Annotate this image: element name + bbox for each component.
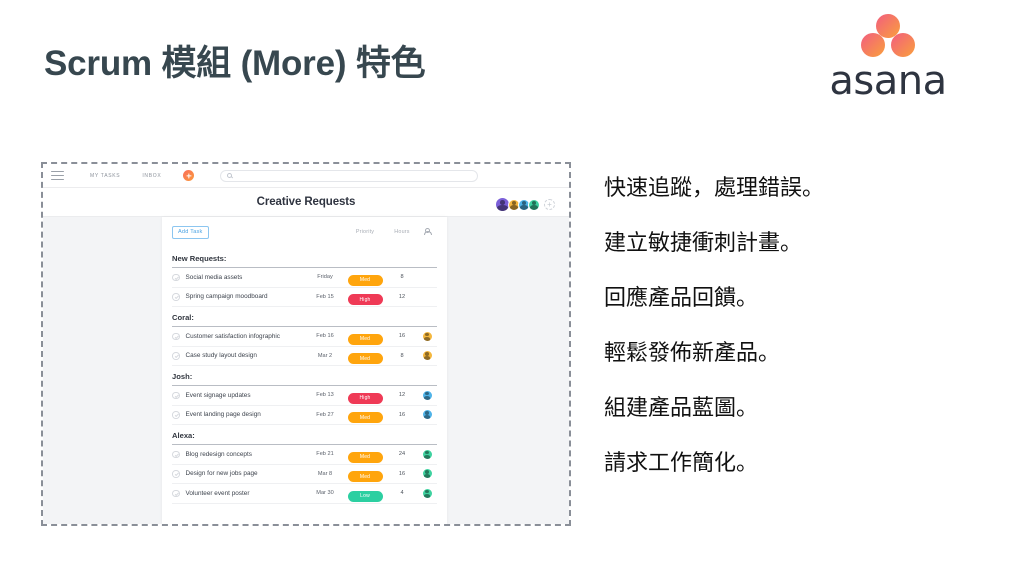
task-complete-checkbox[interactable] — [172, 293, 180, 301]
table-row[interactable]: Case study layout design Mar 2 Med 8 — [172, 347, 437, 367]
task-name: Event signage updates — [186, 392, 308, 399]
task-priority-cell: Low — [343, 484, 387, 502]
task-assignee[interactable] — [417, 489, 437, 498]
section-title: New Requests: — [172, 248, 437, 268]
task-priority-cell: High — [343, 386, 387, 404]
task-complete-checkbox[interactable] — [172, 470, 180, 478]
task-due-date: Feb 27 — [307, 412, 343, 418]
bullet-item: 建立敏捷衝刺計畫。 — [604, 233, 1004, 255]
task-complete-checkbox[interactable] — [172, 392, 180, 400]
table-row[interactable]: Event landing page design Feb 27 Med 16 — [172, 406, 437, 426]
nav-link-inbox[interactable]: INBOX — [142, 173, 161, 179]
task-hours: 12 — [387, 294, 417, 300]
task-assignee[interactable] — [417, 410, 437, 419]
task-priority-cell: Med — [343, 327, 387, 345]
task-name: Event landing page design — [186, 411, 308, 418]
bullet-item: 輕鬆發佈新產品。 — [604, 343, 1004, 365]
table-row[interactable]: Blog redesign concepts Feb 21 Med 24 — [172, 445, 437, 465]
status-badge: Med — [348, 452, 383, 463]
table-row[interactable]: Event signage updates Feb 13 High 12 — [172, 386, 437, 406]
status-badge: Med — [348, 412, 383, 423]
task-due-date: Friday — [307, 274, 343, 280]
quick-add-button[interactable] — [183, 170, 194, 181]
column-header-hours: Hours — [387, 229, 417, 235]
project-members: + — [495, 197, 555, 212]
section-title: Alexa: — [172, 425, 437, 445]
task-due-date: Mar 2 — [307, 353, 343, 359]
slide: Scrum 模組 (More) 特色 asana 快速追蹤，處理錯誤。 建立敏捷… — [0, 0, 1024, 571]
app-topbar: MY TASKS INBOX — [43, 164, 569, 188]
table-row[interactable]: Volunteer event poster Mar 30 Low 4 — [172, 484, 437, 504]
page-title: Scrum 模組 (More) 特色 — [44, 35, 425, 86]
task-name: Blog redesign concepts — [186, 451, 308, 458]
task-name: Customer satisfaction infographic — [186, 333, 308, 340]
project-title: Creative Requests — [257, 196, 356, 208]
task-assignee[interactable] — [417, 450, 437, 459]
task-priority-cell: Med — [343, 445, 387, 463]
task-name: Volunteer event poster — [186, 490, 308, 497]
task-name: Spring campaign moodboard — [186, 293, 308, 300]
column-headers: Priority Hours — [343, 228, 437, 237]
task-hours: 16 — [387, 333, 417, 339]
task-hours: 12 — [387, 392, 417, 398]
table-row[interactable]: Spring campaign moodboard Feb 15 High 12 — [172, 288, 437, 308]
status-badge: Med — [348, 471, 383, 482]
add-task-button[interactable]: Add Task — [172, 226, 209, 239]
avatar[interactable] — [528, 199, 540, 211]
task-assignee[interactable] — [417, 351, 437, 360]
status-badge: Low — [348, 491, 383, 502]
bullet-item: 快速追蹤，處理錯誤。 — [604, 178, 1004, 200]
task-name: Design for new jobs page — [186, 470, 308, 477]
feature-list: 快速追蹤，處理錯誤。 建立敏捷衝刺計畫。 回應產品回饋。 輕鬆發佈新產品。 組建… — [604, 178, 1004, 508]
task-hours: 4 — [387, 490, 417, 496]
status-badge: High — [348, 393, 383, 404]
bullet-item: 回應產品回饋。 — [604, 288, 1004, 310]
task-priority-cell: Med — [343, 465, 387, 483]
task-hours: 8 — [387, 274, 417, 280]
task-name: Social media assets — [186, 274, 308, 281]
task-hours: 24 — [387, 451, 417, 457]
asana-dots-icon — [858, 14, 918, 56]
table-row[interactable]: Design for new jobs page Mar 8 Med 16 — [172, 465, 437, 485]
search-icon — [227, 173, 232, 178]
task-due-date: Feb 15 — [307, 294, 343, 300]
task-complete-checkbox[interactable] — [172, 490, 180, 498]
task-complete-checkbox[interactable] — [172, 333, 180, 341]
nav-link-my-tasks[interactable]: MY TASKS — [90, 173, 120, 179]
search-input[interactable] — [220, 170, 478, 182]
table-row[interactable]: Customer satisfaction infographic Feb 16… — [172, 327, 437, 347]
asana-app: MY TASKS INBOX Creative Requests + — [43, 164, 569, 524]
task-complete-checkbox[interactable] — [172, 451, 180, 459]
add-member-button[interactable]: + — [544, 199, 555, 210]
task-due-date: Feb 21 — [307, 451, 343, 457]
hamburger-icon[interactable] — [51, 168, 64, 182]
section-title: Josh: — [172, 366, 437, 386]
asana-logo: asana — [818, 14, 958, 102]
logo-dot-left — [861, 33, 885, 57]
logo-dot-right — [891, 33, 915, 57]
task-list-toolbar: Add Task Priority Hours — [172, 225, 437, 239]
task-assignee[interactable] — [417, 469, 437, 478]
task-priority-cell: Med — [343, 347, 387, 365]
task-assignee[interactable] — [417, 332, 437, 341]
section-title: Coral: — [172, 307, 437, 327]
task-complete-checkbox[interactable] — [172, 274, 180, 282]
task-priority-cell: High — [343, 288, 387, 306]
status-badge: High — [348, 294, 383, 305]
column-header-priority: Priority — [343, 229, 387, 235]
task-priority-cell: Med — [343, 406, 387, 424]
bullet-item: 組建產品藍圖。 — [604, 398, 1004, 420]
project-header: Creative Requests + — [43, 188, 569, 217]
task-priority-cell: Med — [343, 268, 387, 286]
task-hours: 8 — [387, 353, 417, 359]
task-hours: 16 — [387, 471, 417, 477]
table-row[interactable]: Social media assets Friday Med 8 — [172, 268, 437, 288]
task-due-date: Mar 30 — [307, 490, 343, 496]
task-due-date: Mar 8 — [307, 471, 343, 477]
task-list-card: Add Task Priority Hours New Requests: So… — [162, 217, 447, 524]
bullet-item: 請求工作簡化。 — [604, 453, 1004, 475]
task-name: Case study layout design — [186, 352, 308, 359]
person-icon — [424, 228, 430, 235]
status-badge: Med — [348, 353, 383, 364]
app-screenshot-frame: MY TASKS INBOX Creative Requests + — [41, 162, 571, 526]
status-badge: Med — [348, 275, 383, 286]
task-due-date: Feb 13 — [307, 392, 343, 398]
project-content: Add Task Priority Hours New Requests: So… — [43, 217, 569, 524]
status-badge: Med — [348, 334, 383, 345]
task-due-date: Feb 16 — [307, 333, 343, 339]
task-assignee[interactable] — [417, 391, 437, 400]
column-header-assignee — [417, 228, 437, 237]
task-hours: 16 — [387, 412, 417, 418]
asana-wordmark: asana — [818, 58, 958, 104]
task-complete-checkbox[interactable] — [172, 352, 180, 360]
task-complete-checkbox[interactable] — [172, 411, 180, 419]
